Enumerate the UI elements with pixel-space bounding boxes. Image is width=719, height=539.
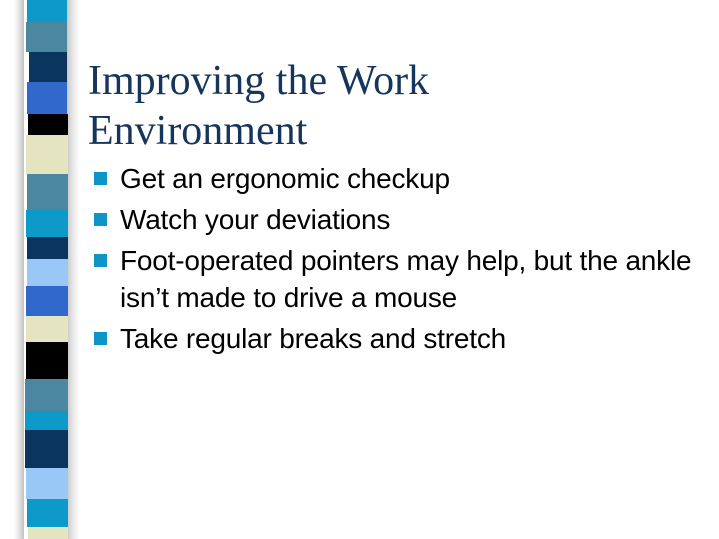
bullet-square-icon [94, 254, 107, 267]
bullet-square-icon [94, 172, 107, 185]
color-band [0, 430, 90, 468]
color-band [0, 210, 90, 237]
color-band [0, 259, 90, 286]
list-item: Take regular breaks and stretch [94, 320, 694, 357]
color-band-column [0, 0, 90, 539]
color-band [0, 52, 90, 82]
list-item: Get an ergonomic checkup [94, 160, 694, 197]
color-band [0, 237, 90, 259]
color-band [0, 316, 90, 342]
color-band [0, 22, 90, 52]
color-band [0, 342, 90, 379]
list-item-label: Get an ergonomic checkup [120, 160, 694, 197]
color-band [0, 286, 90, 316]
list-item: Watch your deviations [94, 201, 694, 238]
presentation-slide: Improving the Work Environment Get an er… [0, 0, 719, 539]
color-band [0, 114, 90, 135]
bullet-square-icon [94, 213, 107, 226]
color-band [0, 82, 90, 114]
color-band [0, 499, 90, 527]
list-item-label: Foot-operated pointers may help, but the… [120, 242, 694, 316]
left-decorative-stripe [0, 0, 90, 539]
color-band [0, 174, 90, 210]
list-item-label: Take regular breaks and stretch [120, 320, 694, 357]
color-band [0, 411, 90, 430]
list-item-label: Watch your deviations [120, 201, 694, 238]
color-band [0, 379, 90, 411]
slide-title: Improving the Work Environment [88, 56, 648, 156]
color-band [0, 527, 90, 539]
bullet-square-icon [94, 332, 107, 345]
color-band [0, 468, 90, 499]
list-item: Foot-operated pointers may help, but the… [94, 242, 694, 316]
bullet-list: Get an ergonomic checkup Watch your devi… [94, 160, 694, 361]
color-band [0, 0, 90, 22]
color-band [0, 135, 90, 174]
